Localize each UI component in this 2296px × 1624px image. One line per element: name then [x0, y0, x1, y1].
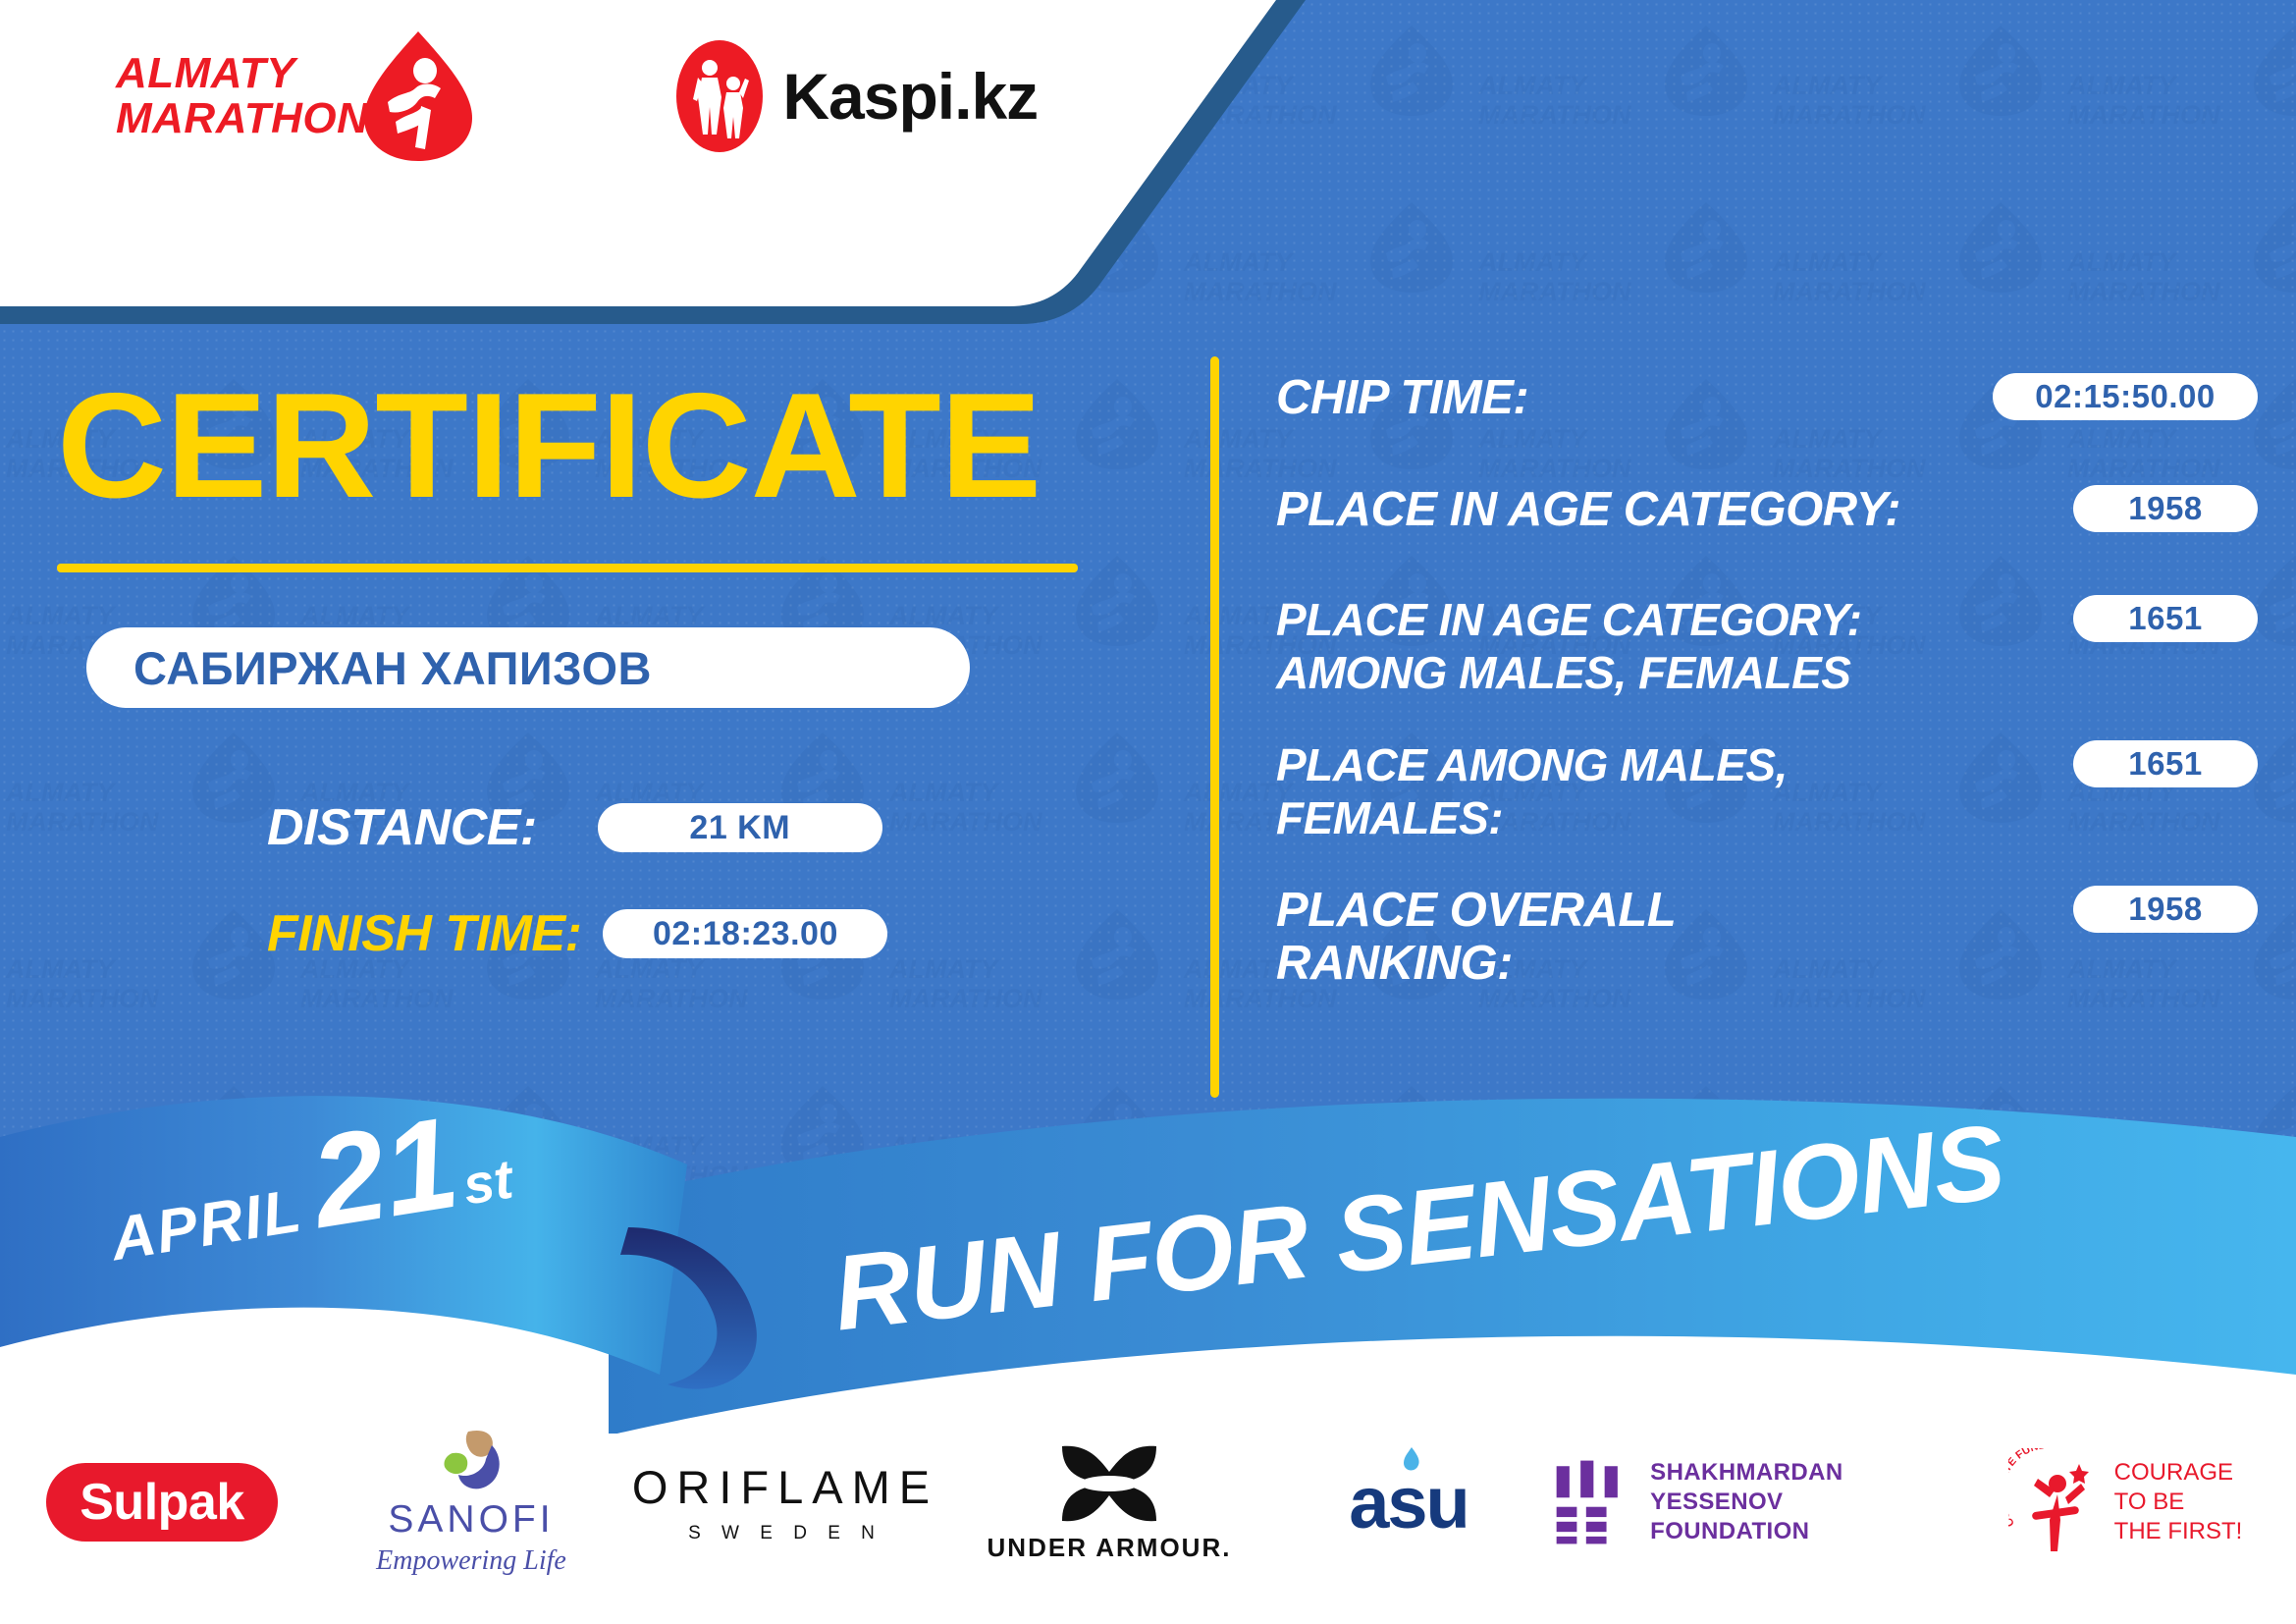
- courage-line-2: TO BE: [2114, 1488, 2243, 1517]
- almaty-marathon-logo: ALMATY MARATHON: [116, 27, 476, 165]
- stat-value: 1958: [2073, 886, 2258, 933]
- sponsor-logos: Sulpak SANOFI Empowering Life ORIFLAME S…: [0, 1404, 2296, 1600]
- finish-time-label: FINISH TIME:: [267, 904, 581, 963]
- sanofi-tagline: Empowering Life: [376, 1545, 566, 1577]
- stat-label: PLACE OVERALL RANKING:: [1276, 884, 1904, 990]
- yessenov-name-line: SHAKHMARDAN YESSENOV: [1650, 1458, 1963, 1517]
- oriflame-tagline: S W E D E N: [688, 1523, 882, 1544]
- sponsor-under-armour: UNDER ARMOUR.: [952, 1442, 1266, 1563]
- stats-column: CHIP TIME: 02:15:50.00 PLACE IN AGE CATE…: [1276, 371, 2258, 990]
- yessenov-foundation-line: FOUNDATION: [1650, 1517, 1963, 1546]
- kaspi-logo: Kaspi.kz: [672, 38, 1038, 154]
- sponsor-sanofi: SANOFI Empowering Life: [324, 1428, 618, 1577]
- certificate-canvas: ALMATY MARATHON Kaspi.kz: [0, 0, 2296, 1624]
- sanofi-wordmark: SANOFI: [388, 1498, 554, 1542]
- sanofi-mark-icon: [431, 1428, 511, 1498]
- stat-label: PLACE AMONG MALES, FEMALES:: [1276, 738, 1904, 844]
- stat-row-chip-time: CHIP TIME: 02:15:50.00: [1276, 371, 2258, 426]
- stat-label: CHIP TIME:: [1276, 371, 1528, 424]
- under-armour-icon: [1046, 1442, 1172, 1525]
- sponsor-asu: asu: [1266, 1461, 1551, 1544]
- yessenov-bars-icon: [1551, 1458, 1629, 1546]
- yessenov-wordmark: SHAKHMARDAN YESSENOV FOUNDATION: [1650, 1458, 1963, 1546]
- courage-line-3: THE FIRST!: [2114, 1517, 2243, 1546]
- stat-row-place-among-males-females: PLACE AMONG MALES, FEMALES: 1651: [1276, 738, 2258, 844]
- event-day: 21: [304, 1105, 465, 1242]
- stat-value: 1651: [2073, 595, 2258, 642]
- stat-row-place-overall-ranking: PLACE OVERALL RANKING: 1958: [1276, 884, 2258, 990]
- event-day-suffix: st: [458, 1147, 516, 1218]
- almaty-line-2: MARATHON: [116, 96, 368, 141]
- almaty-marathon-wordmark: ALMATY MARATHON: [116, 51, 368, 141]
- oriflame-wordmark: ORIFLAME: [632, 1460, 938, 1514]
- almaty-line-1: ALMATY: [116, 51, 368, 96]
- stat-label: PLACE IN AGE CATEGORY:: [1276, 483, 1900, 536]
- sponsor-corporate-fund: CORPORATE FUND COURAGE TO BE THE FIRST!: [1963, 1448, 2287, 1556]
- finish-time-row: FINISH TIME: 02:18:23.00: [267, 904, 1168, 963]
- column-divider: [1210, 356, 1219, 1098]
- page-title: CERTIFICATE: [57, 371, 1191, 520]
- finish-time-value: 02:18:23.00: [603, 909, 887, 958]
- participant-name-field: САБИРЖАН ХАПИЗОВ: [86, 627, 970, 708]
- corporate-fund-runner-icon: CORPORATE FUND: [2008, 1448, 2103, 1556]
- header-logos: ALMATY MARATHON Kaspi.kz: [0, 0, 1178, 192]
- distance-row: DISTANCE: 21 KM: [267, 798, 1168, 857]
- participant-name: САБИРЖАН ХАПИЗОВ: [133, 641, 652, 695]
- kaspi-wordmark: Kaspi.kz: [782, 59, 1038, 134]
- sponsor-yessenov-foundation: SHAKHMARDAN YESSENOV FOUNDATION: [1551, 1458, 1963, 1546]
- under-armour-wordmark: UNDER ARMOUR.: [988, 1533, 1232, 1563]
- stat-value: 1651: [2073, 740, 2258, 787]
- runner-drop-icon: [360, 27, 476, 165]
- distance-label: DISTANCE:: [267, 798, 537, 857]
- left-column: CERTIFICATE САБИРЖАН ХАПИЗОВ DISTANCE: 2…: [0, 324, 1168, 963]
- stat-row-place-age-category: PLACE IN AGE CATEGORY: 1958: [1276, 483, 2258, 538]
- sulpak-wordmark: Sulpak: [46, 1463, 278, 1542]
- sponsor-sulpak: Sulpak: [0, 1463, 324, 1542]
- distance-value: 21 KM: [598, 803, 882, 852]
- courage-line-1: COURAGE: [2114, 1458, 2243, 1488]
- corporate-fund-tagline: COURAGE TO BE THE FIRST!: [2114, 1458, 2243, 1546]
- stat-value: 02:15:50.00: [1993, 373, 2258, 420]
- kaspi-people-icon: [672, 38, 767, 154]
- stat-label: PLACE IN AGE CATEGORY: AMONG MALES, FEMA…: [1276, 593, 1904, 699]
- asu-droplet-icon: [1398, 1445, 1423, 1475]
- title-divider: [57, 564, 1078, 572]
- stat-row-place-age-category-among: PLACE IN AGE CATEGORY: AMONG MALES, FEMA…: [1276, 593, 2258, 699]
- stat-value: 1958: [2073, 485, 2258, 532]
- sponsor-oriflame: ORIFLAME S W E D E N: [618, 1460, 952, 1544]
